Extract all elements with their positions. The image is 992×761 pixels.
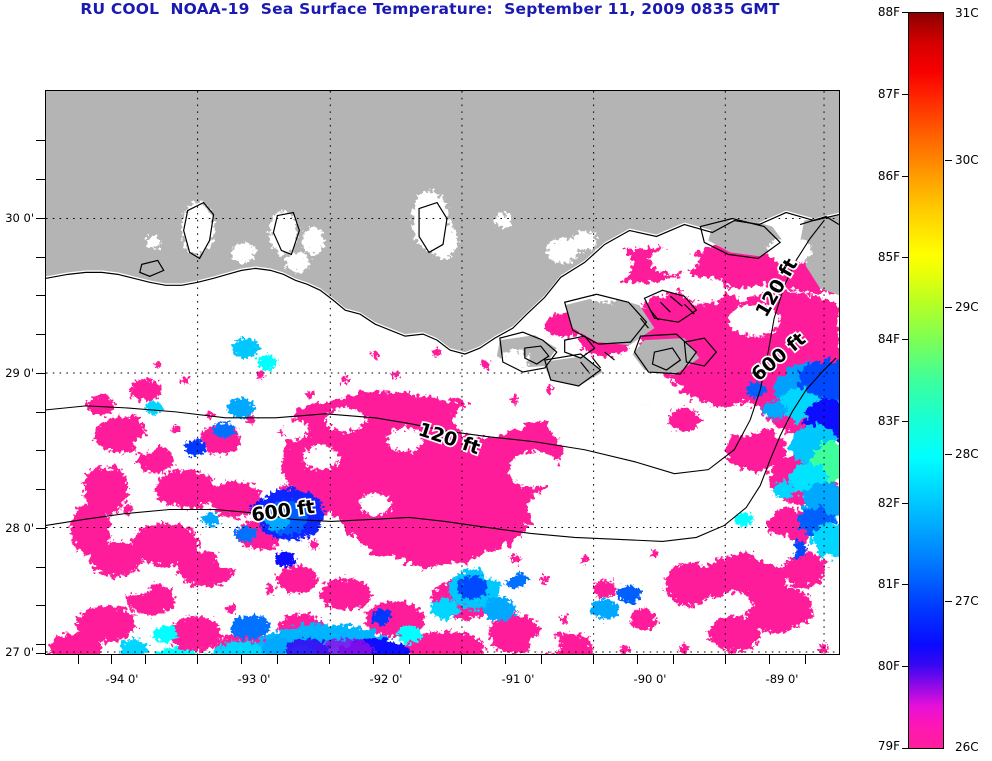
x-tick-minor — [461, 655, 462, 664]
cb-label-f-4: 84F — [866, 332, 900, 346]
cb-label-c-4: 27C — [955, 594, 979, 608]
y-tick-minor — [36, 605, 45, 606]
y-tick-major — [36, 653, 45, 654]
x-tick-major — [409, 655, 410, 664]
y-tick-major — [36, 218, 45, 219]
cb-tick-f-83 — [902, 421, 909, 422]
cb-label-c-3: 28C — [955, 447, 979, 461]
y-tick-major — [36, 373, 45, 374]
x-tick-minor — [805, 655, 806, 664]
y-tick-minor — [36, 567, 45, 568]
cb-tick-c-30 — [945, 160, 952, 161]
y-axis-label-1: 29 0' — [0, 366, 34, 380]
page-title: RU COOL NOAA-19 Sea Surface Temperature:… — [0, 0, 860, 18]
x-tick-minor — [145, 655, 146, 664]
cb-label-c-1: 30C — [955, 153, 979, 167]
x-tick-minor — [241, 655, 242, 664]
x-axis-label-3: -91 0' — [502, 672, 535, 686]
cb-tick-f-87 — [902, 94, 909, 95]
x-tick-minor — [373, 655, 374, 664]
cb-tick-c-27 — [945, 601, 952, 602]
map-plot-area: 120 ft 600 ft 120 ft 600 ft — [45, 90, 840, 655]
y-axis-label-0: 30 0' — [0, 211, 34, 225]
x-tick-minor — [725, 655, 726, 664]
y-tick-minor — [36, 179, 45, 180]
cb-tick-f-81 — [902, 584, 909, 585]
cb-tick-f-86 — [902, 176, 909, 177]
y-tick-minor — [36, 489, 45, 490]
x-tick-minor — [637, 655, 638, 664]
x-tick-minor — [593, 655, 594, 664]
y-tick-minor — [36, 644, 45, 645]
x-tick-major — [277, 655, 278, 664]
x-tick-minor — [329, 655, 330, 664]
x-tick-minor — [769, 655, 770, 664]
cb-label-f-9: 79F — [866, 739, 900, 753]
y-tick-minor — [36, 140, 45, 141]
cb-label-f-7: 81F — [866, 577, 900, 591]
cb-tick-f-85 — [902, 257, 909, 258]
cb-label-f-8: 80F — [866, 659, 900, 673]
x-axis-label-0: -94 0' — [106, 672, 139, 686]
y-axis-label-2: 28 0' — [0, 521, 34, 535]
sst-map-canvas: 120 ft 600 ft 120 ft 600 ft — [46, 91, 839, 654]
x-tick-minor — [505, 655, 506, 664]
cb-label-f-1: 87F — [866, 87, 900, 101]
cb-tick-f-84 — [902, 339, 909, 340]
cb-tick-f-88 — [902, 12, 909, 13]
y-tick-minor — [36, 450, 45, 451]
cb-label-f-6: 82F — [866, 496, 900, 510]
cb-label-f-5: 83F — [866, 414, 900, 428]
x-axis-label-2: -92 0' — [370, 672, 403, 686]
y-tick-minor — [36, 412, 45, 413]
x-tick-major — [541, 655, 542, 664]
cb-tick-f-80 — [902, 666, 909, 667]
cb-label-c-5: 26C — [955, 740, 979, 754]
x-tick-major — [673, 655, 674, 664]
cb-tick-c-29 — [945, 307, 952, 308]
cb-tick-f-82 — [902, 503, 909, 504]
cb-label-c-0: 31C — [955, 6, 979, 20]
x-tick-minor — [197, 655, 198, 664]
x-tick-minor — [111, 655, 112, 664]
x-axis-label-4: -90 0' — [634, 672, 667, 686]
cb-tick-f-79 — [902, 748, 909, 749]
cb-label-f-0: 88F — [866, 5, 900, 19]
x-axis-label-5: -89 0' — [766, 672, 799, 686]
cb-tick-c-28 — [945, 454, 952, 455]
y-tick-minor — [36, 257, 45, 258]
cb-label-c-2: 29C — [955, 300, 979, 314]
cb-label-f-3: 85F — [866, 250, 900, 264]
y-tick-major — [36, 528, 45, 529]
x-tick-minor — [78, 655, 79, 664]
cb-label-f-2: 86F — [866, 169, 900, 183]
y-axis-label-3: 27 0' — [0, 645, 34, 659]
y-tick-minor — [36, 295, 45, 296]
y-tick-minor — [36, 334, 45, 335]
temperature-colorbar[interactable] — [908, 12, 944, 749]
x-axis-label-1: -93 0' — [238, 672, 271, 686]
